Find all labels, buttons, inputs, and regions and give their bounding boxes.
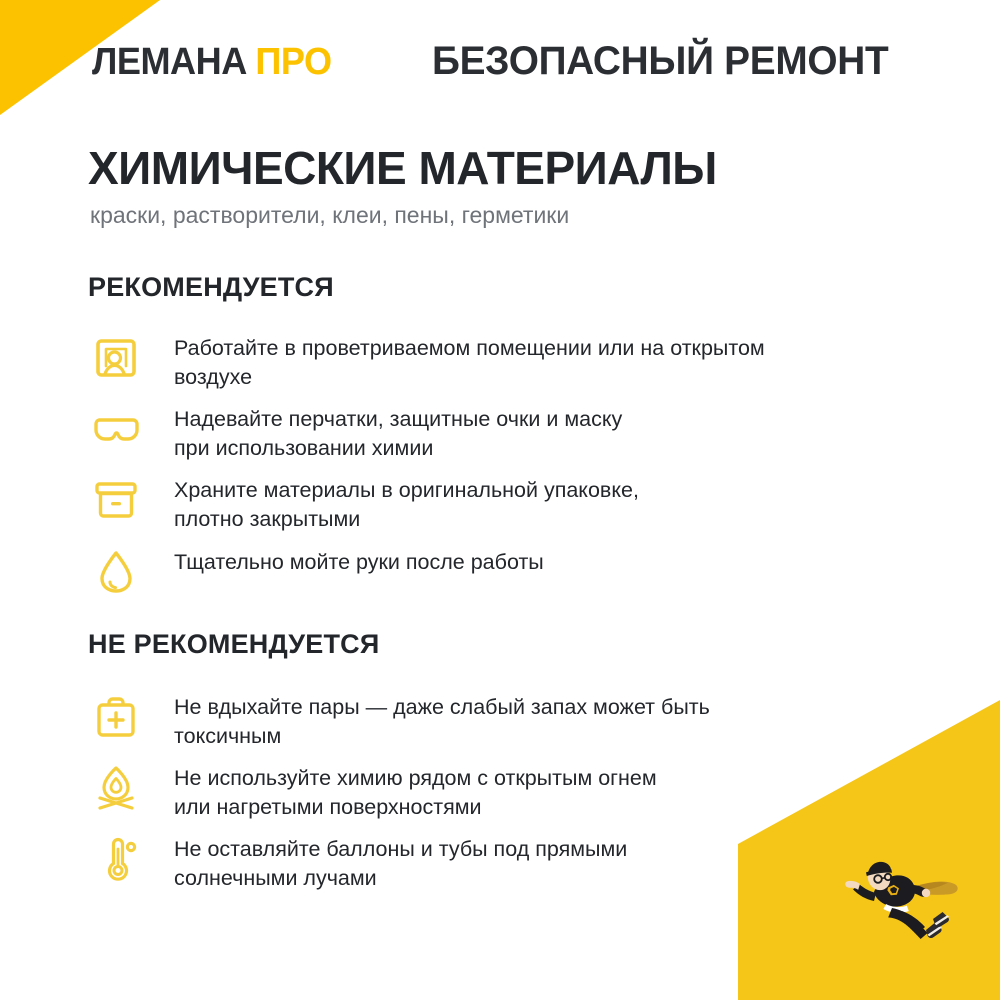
list-item-text: Не оставляйте баллоны и тубы под прямыми… xyxy=(174,833,918,893)
list-item-text: Не используйте химию рядом с открытым ог… xyxy=(174,762,918,822)
list-item-text: Храните материалы в оригинальной упаковк… xyxy=(174,474,918,534)
first-aid-kit-icon xyxy=(88,691,144,743)
list-item: Не используйте химию рядом с открытым ог… xyxy=(88,762,918,822)
water-drop-icon xyxy=(88,546,144,598)
storage-box-icon xyxy=(88,474,144,526)
list-item: Храните материалы в оригинальной упаковк… xyxy=(88,474,918,534)
list-item-text: Тщательно мойте руки после работы xyxy=(174,546,918,577)
list-item: Не оставляйте баллоны и тубы под прямыми… xyxy=(88,833,918,893)
list-item: Не вдыхайте пары — даже слабый запах мож… xyxy=(88,691,918,751)
list-item-text: Работайте в проветриваемом помещении или… xyxy=(174,332,918,392)
list-item: Надевайте перчатки, защитные очки и маск… xyxy=(88,403,918,463)
section-heading-recommended: РЕКОМЕНДУЕТСЯ xyxy=(88,274,334,301)
safety-goggles-icon xyxy=(88,403,144,455)
thermometer-icon xyxy=(88,833,144,885)
infographic-poster: ЛЕМАНАПРО БЕЗОПАСНЫЙ РЕМОНТ ХИМИЧЕСКИЕ М… xyxy=(0,0,1000,1000)
campfire-flame-icon xyxy=(88,762,144,814)
brand-logo-suffix: ПРО xyxy=(255,41,331,83)
header-title: БЕЗОПАСНЫЙ РЕМОНТ xyxy=(432,41,888,81)
brand-logo: ЛЕМАНАПРО xyxy=(92,43,332,81)
ventilated-room-icon xyxy=(88,332,144,384)
list-item: Тщательно мойте руки после работы xyxy=(88,546,918,598)
list-item-text: Надевайте перчатки, защитные очки и маск… xyxy=(174,403,918,463)
list-item: Работайте в проветриваемом помещении или… xyxy=(88,332,918,392)
brand-logo-main: ЛЕМАНА xyxy=(92,41,247,83)
list-item-text: Не вдыхайте пары — даже слабый запах мож… xyxy=(174,691,918,751)
section-heading-not-recommended: НЕ РЕКОМЕНДУЕТСЯ xyxy=(88,631,379,658)
flying-superhero-illustration xyxy=(830,840,990,955)
header: ЛЕМАНАПРО БЕЗОПАСНЫЙ РЕМОНТ xyxy=(0,0,1000,115)
page-title: ХИМИЧЕСКИЕ МАТЕРИАЛЫ xyxy=(88,145,717,191)
page-subtitle: краски, растворители, клеи, пены, гермет… xyxy=(90,204,569,227)
